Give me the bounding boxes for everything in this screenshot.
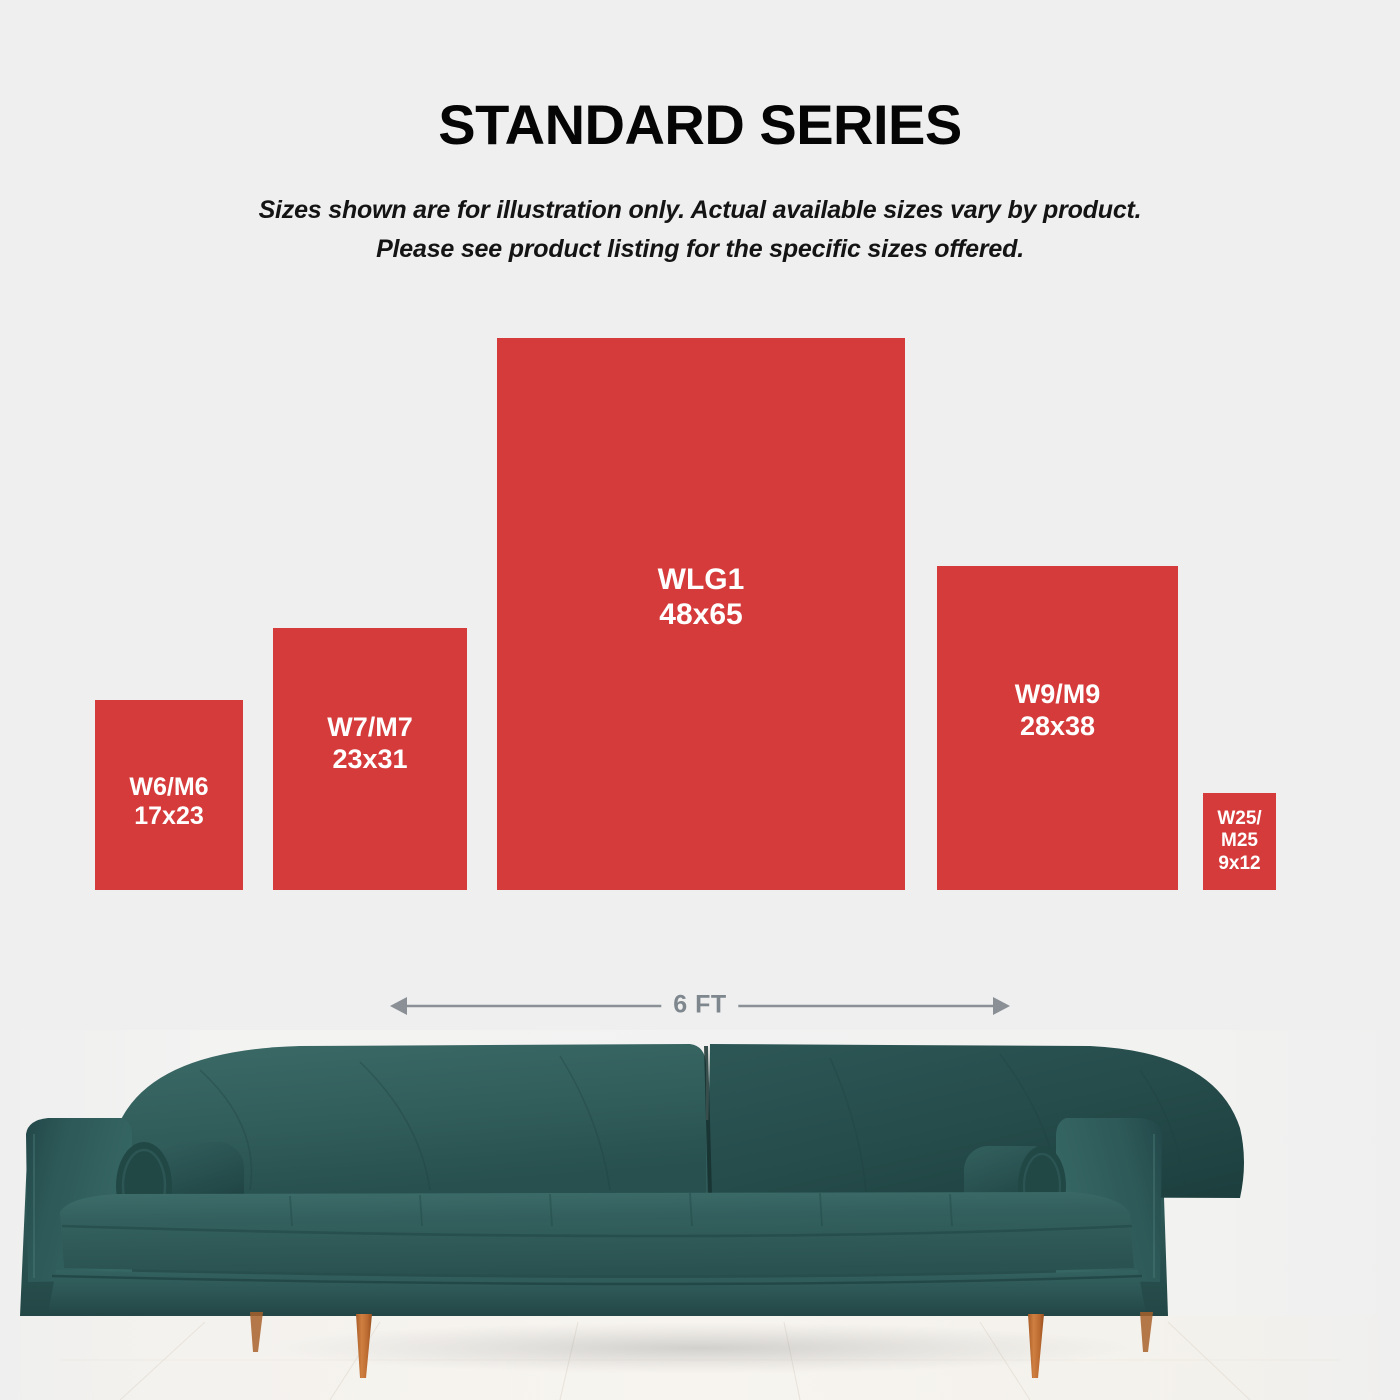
arrow-left-icon bbox=[390, 997, 407, 1015]
frame-swatch-w6-text: W6/M6 17x23 bbox=[129, 773, 208, 832]
green-velvet-sofa-illustration bbox=[0, 1030, 1400, 1400]
seat-cushion bbox=[60, 1192, 1134, 1275]
width-measurement: 6 FT bbox=[390, 986, 1010, 1026]
frame-swatch-w9[interactable]: W9/M9 28x38 bbox=[937, 566, 1178, 890]
frame-swatch-w7-text: W7/M7 23x31 bbox=[327, 712, 413, 776]
frame-swatch-w25-size: 9x12 bbox=[1218, 853, 1260, 875]
frame-swatch-w9-label: W9/M9 bbox=[1015, 679, 1101, 711]
frame-swatch-w6-label: W6/M6 bbox=[129, 773, 208, 803]
frame-swatch-w25-label2: M25 bbox=[1221, 830, 1258, 852]
frame-swatch-w25-text: W25/ M25 9x12 bbox=[1217, 808, 1261, 875]
frame-swatch-w6-size: 17x23 bbox=[134, 802, 204, 832]
frame-swatch-wlg1-label: WLG1 bbox=[658, 562, 745, 597]
frame-swatch-w7-size: 23x31 bbox=[332, 744, 407, 776]
frame-swatch-w9-size: 28x38 bbox=[1020, 711, 1095, 743]
sofa-scene bbox=[0, 1030, 1400, 1400]
frame-swatch-w9-text: W9/M9 28x38 bbox=[1015, 679, 1101, 743]
frame-swatch-wlg1-size: 48x65 bbox=[659, 597, 742, 632]
sofa-shadow bbox=[270, 1322, 1130, 1374]
frame-swatch-wlg1[interactable]: WLG1 48x65 bbox=[497, 338, 905, 890]
frame-swatch-w7[interactable]: W7/M7 23x31 bbox=[273, 628, 467, 890]
arrow-right-icon bbox=[993, 997, 1010, 1015]
size-chart-infographic: STANDARD SERIES Sizes shown are for illu… bbox=[0, 0, 1400, 1400]
frame-swatch-w25-label: W25/ bbox=[1217, 808, 1261, 830]
frame-swatch-w7-label: W7/M7 bbox=[327, 712, 413, 744]
frame-swatch-w25[interactable]: W25/ M25 9x12 bbox=[1203, 793, 1276, 890]
measurement-label: 6 FT bbox=[661, 990, 738, 1023]
frame-swatch-w6[interactable]: W6/M6 17x23 bbox=[95, 700, 243, 890]
frame-swatch-wlg1-text: WLG1 48x65 bbox=[658, 562, 745, 633]
